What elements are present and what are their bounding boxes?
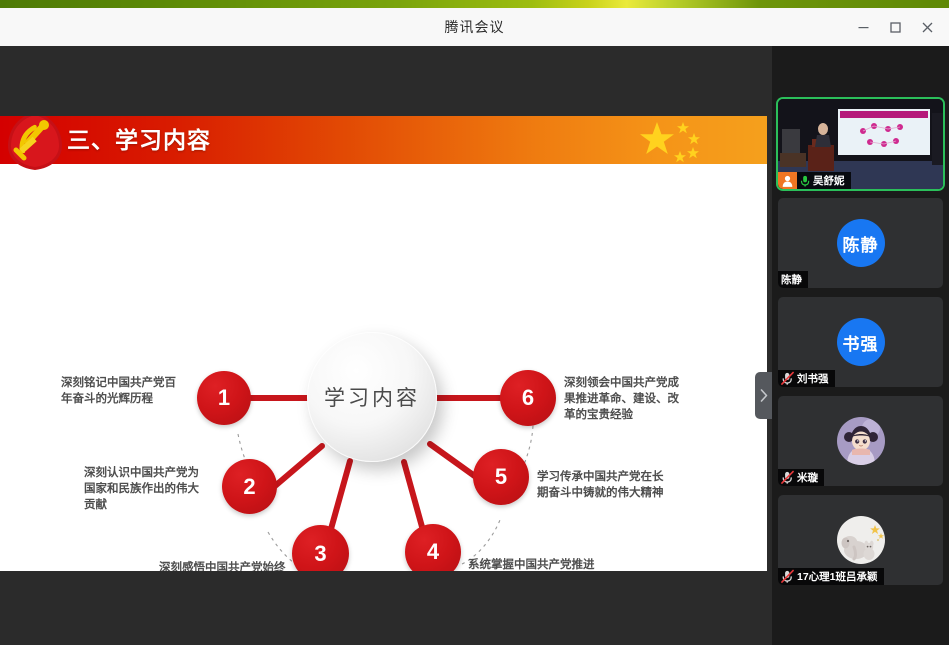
participant-initials-2: 书强 bbox=[843, 330, 879, 355]
diagram-node-3-number: 3 bbox=[314, 541, 326, 567]
minimize-icon bbox=[858, 22, 869, 33]
diagram-label-6: 深刻领会中国共产党成 果推进革命、建设、改 革的宝贵经验 bbox=[564, 375, 696, 423]
microphone-muted-icon bbox=[781, 570, 794, 583]
maximize-icon bbox=[890, 22, 901, 33]
elephant-avatar bbox=[837, 516, 885, 564]
diagram-node-1[interactable]: 1 bbox=[197, 371, 251, 425]
microphone-muted-icon bbox=[781, 471, 794, 484]
window-title: 腾讯会议 bbox=[0, 8, 949, 46]
participant-tile-2[interactable]: 书强 刘书强 bbox=[778, 297, 943, 387]
diagram-node-6[interactable]: 6 bbox=[500, 370, 556, 426]
diagram-node-6-number: 6 bbox=[522, 385, 534, 411]
microphone-muted-icon bbox=[781, 372, 794, 385]
study-content-diagram: 学习内容 1 2 3 4 5 6 bbox=[0, 164, 767, 571]
chevron-right-icon bbox=[760, 389, 768, 402]
microphone-icon bbox=[800, 175, 810, 187]
person-icon bbox=[782, 175, 793, 187]
participant-initials-1: 陈静 bbox=[843, 231, 879, 256]
window-title-bar: 腾讯会议 bbox=[0, 8, 949, 47]
window-controls bbox=[847, 8, 943, 46]
diagram-label-4: 系统掌握中国共产党推进 马克思主义中国化形成的 重大理论成果 bbox=[468, 557, 628, 571]
participant-tile-4[interactable]: 17心理1班吕承颖 bbox=[778, 495, 943, 585]
diagram-node-2[interactable]: 2 bbox=[222, 459, 277, 514]
diagram-node-1-number: 1 bbox=[218, 385, 230, 411]
participant-avatar-4 bbox=[837, 516, 885, 564]
participant-name-chip-2: 刘书强 bbox=[778, 370, 835, 387]
presentation-slide: 三、学习内容 bbox=[0, 116, 767, 571]
participant-name-chip-3: 米璇 bbox=[778, 469, 824, 486]
participants-panel[interactable]: 吴舒妮 陈静 陈静 书强 刘书强 bbox=[772, 46, 949, 645]
participant-avatar-1: 陈静 bbox=[837, 219, 885, 267]
participant-name-4: 17心理1班吕承颖 bbox=[797, 569, 878, 584]
diagram-label-3: 深刻感悟中国共产党始终 不渝为人民的初心宗旨 bbox=[159, 560, 313, 571]
participant-avatar-icon-0 bbox=[778, 172, 797, 189]
participant-tile-0[interactable]: 吴舒妮 bbox=[778, 99, 943, 189]
participant-tile-1[interactable]: 陈静 陈静 bbox=[778, 198, 943, 288]
china-flag-stars bbox=[639, 118, 709, 162]
anime-girl-avatar bbox=[837, 417, 885, 465]
diagram-center-node: 学习内容 bbox=[307, 332, 437, 462]
diagram-node-5-number: 5 bbox=[495, 464, 507, 490]
participant-name-chip-1: 陈静 bbox=[778, 271, 808, 288]
desktop-top-strip bbox=[0, 0, 949, 8]
participant-tile-3[interactable]: 米璇 bbox=[778, 396, 943, 486]
participant-name-0: 吴舒妮 bbox=[813, 173, 845, 188]
participant-name-1: 陈静 bbox=[781, 272, 802, 287]
slide-banner: 三、学习内容 bbox=[0, 116, 767, 164]
shared-screen-stage: 三、学习内容 bbox=[0, 46, 772, 645]
diagram-node-4-number: 4 bbox=[427, 539, 439, 565]
diagram-node-4[interactable]: 4 bbox=[405, 524, 461, 571]
close-button[interactable] bbox=[911, 12, 943, 42]
collapse-panel-button[interactable] bbox=[755, 372, 772, 419]
participant-name-chip-0: 吴舒妮 bbox=[778, 172, 851, 189]
maximize-button[interactable] bbox=[879, 12, 911, 42]
diagram-node-2-number: 2 bbox=[243, 474, 255, 500]
diagram-label-1: 深刻铭记中国共产党百 年奋斗的光辉历程 bbox=[61, 375, 201, 407]
diagram-label-5: 学习传承中国共产党在长 期奋斗中铸就的伟大精神 bbox=[537, 469, 697, 501]
slide-heading: 三、学习内容 bbox=[67, 116, 211, 164]
diagram-label-2: 深刻认识中国共产党为 国家和民族作出的伟大 贡献 bbox=[84, 465, 226, 513]
participant-avatar-2: 书强 bbox=[837, 318, 885, 366]
participant-name-chip-4: 17心理1班吕承颖 bbox=[778, 568, 884, 585]
minimize-button[interactable] bbox=[847, 12, 879, 42]
participant-name-2: 刘书强 bbox=[797, 371, 829, 386]
tencent-meeting-window: 腾讯会议 bbox=[0, 0, 949, 645]
close-icon bbox=[922, 22, 933, 33]
diagram-node-5[interactable]: 5 bbox=[473, 449, 529, 505]
diagram-center-label: 学习内容 bbox=[324, 382, 420, 412]
participant-avatar-3 bbox=[837, 417, 885, 465]
participant-name-3: 米璇 bbox=[797, 470, 818, 485]
